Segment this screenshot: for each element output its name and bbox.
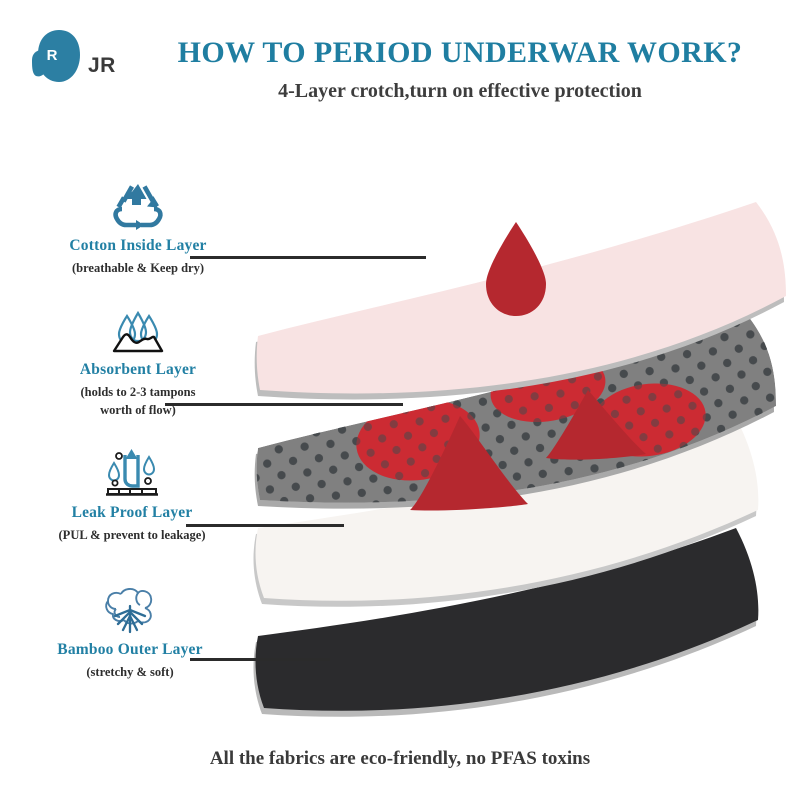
- page-title: HOW TO PERIOD UNDERWAR WORK?: [128, 36, 792, 70]
- layer-sub-absorbent: (holds to 2-3 tampons worth of flow): [8, 383, 268, 419]
- water-droplets-absorb-icon: [8, 300, 268, 356]
- layer-title-leakproof: Leak Proof Layer: [2, 504, 262, 522]
- layer-title-absorbent: Absorbent Layer: [8, 361, 268, 379]
- layer-sub-bamboo: (stretchy & soft): [0, 663, 260, 681]
- layer-title-cotton: Cotton Inside Layer: [8, 237, 268, 255]
- layer-label-leakproof: Leak Proof Layer (PUL & prevent to leaka…: [2, 443, 262, 544]
- page-subtitle: 4-Layer crotch,turn on effective protect…: [128, 80, 792, 103]
- recycle-icon: [8, 176, 268, 232]
- layer-sub-cotton: (breathable & Keep dry): [8, 259, 268, 277]
- layer-label-bamboo: Bamboo Outer Layer (stretchy & soft): [0, 580, 260, 681]
- footer-note: All the fabrics are eco-friendly, no PFA…: [0, 748, 800, 770]
- layer-label-absorbent: Absorbent Layer (holds to 2-3 tampons wo…: [8, 300, 268, 419]
- brand-wordmark: JR: [88, 54, 116, 78]
- four-layer-exploded-diagram: [228, 148, 800, 728]
- brand-logo: R JR: [22, 26, 137, 88]
- cotton-mark-blood-drop: [486, 222, 546, 316]
- leak-proof-barrier-icon: [2, 443, 262, 499]
- layer-label-cotton: Cotton Inside Layer (breathable & Keep d…: [8, 176, 268, 277]
- logo-letter: R: [47, 47, 58, 64]
- infographic-page: R JR HOW TO PERIOD UNDERWAR WORK? 4-Laye…: [0, 0, 800, 800]
- jr-logo-icon: R: [30, 28, 82, 84]
- cotton-boll-icon: [0, 580, 260, 636]
- layer-sub-leakproof: (PUL & prevent to leakage): [2, 526, 262, 544]
- layer-sub-absorbent-line1: (holds to 2-3 tampons: [8, 383, 268, 401]
- layer-title-bamboo: Bamboo Outer Layer: [0, 641, 260, 659]
- layer-sub-absorbent-line2: worth of flow): [8, 401, 268, 419]
